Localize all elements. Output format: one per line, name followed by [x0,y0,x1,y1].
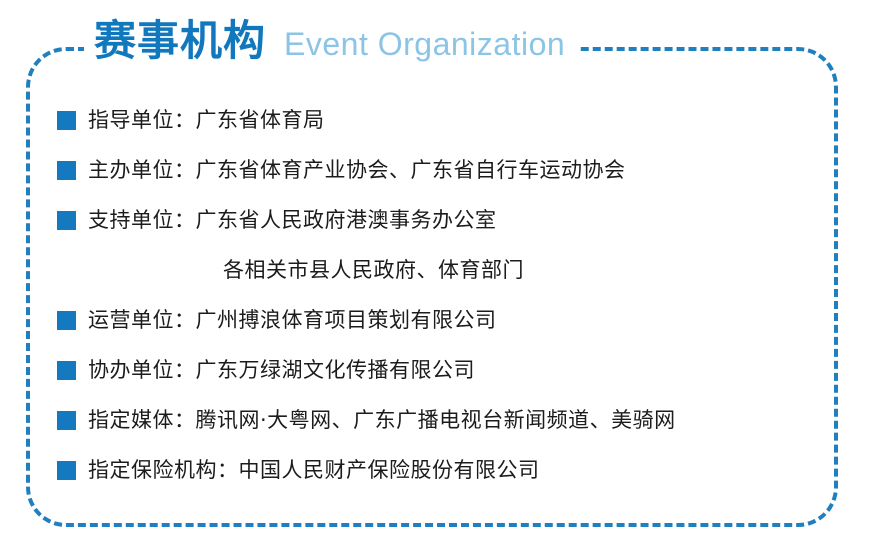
list-item: 主办单位：广东省体育产业协会、广东省自行车运动协会 [57,155,837,205]
list-item-label: 运营单位：广州搏浪体育项目策划有限公司 [88,305,497,335]
list-item-continuation: 各相关市县人民政府、体育部门 [57,255,837,305]
list-item-label: 指定媒体：腾讯网·大粤网、广东广播电视台新闻频道、美骑网 [88,405,676,435]
square-bullet-icon [57,211,76,230]
organization-list: 指导单位：广东省体育局 主办单位：广东省体育产业协会、广东省自行车运动协会 支持… [57,105,837,505]
list-item-label: 指导单位：广东省体育局 [88,105,325,135]
list-item-label: 各相关市县人民政府、体育部门 [88,255,524,285]
list-item: 指导单位：广东省体育局 [57,105,837,155]
square-bullet-icon [57,461,76,480]
square-bullet-icon [57,311,76,330]
list-item: 指定保险机构：中国人民财产保险股份有限公司 [57,455,837,505]
page-title-en: Event Organization [284,28,565,60]
list-item: 支持单位：广东省人民政府港澳事务办公室 [57,205,837,255]
square-bullet-icon [57,111,76,130]
list-item-label: 指定保险机构：中国人民财产保险股份有限公司 [88,455,540,485]
square-bullet-placeholder [57,261,76,280]
list-item-label: 支持单位：广东省人民政府港澳事务办公室 [88,205,497,235]
list-item: 指定媒体：腾讯网·大粤网、广东广播电视台新闻频道、美骑网 [57,405,837,455]
list-item-label: 协办单位：广东万绿湖文化传播有限公司 [88,355,475,385]
page-title-cn: 赛事机构 [94,20,266,62]
square-bullet-icon [57,361,76,380]
list-item-label: 主办单位：广东省体育产业协会、广东省自行车运动协会 [88,155,626,185]
list-item: 协办单位：广东万绿湖文化传播有限公司 [57,355,837,405]
square-bullet-icon [57,161,76,180]
section-header: 赛事机构 Event Organization [84,20,579,78]
list-item: 运营单位：广州搏浪体育项目策划有限公司 [57,305,837,355]
square-bullet-icon [57,411,76,430]
